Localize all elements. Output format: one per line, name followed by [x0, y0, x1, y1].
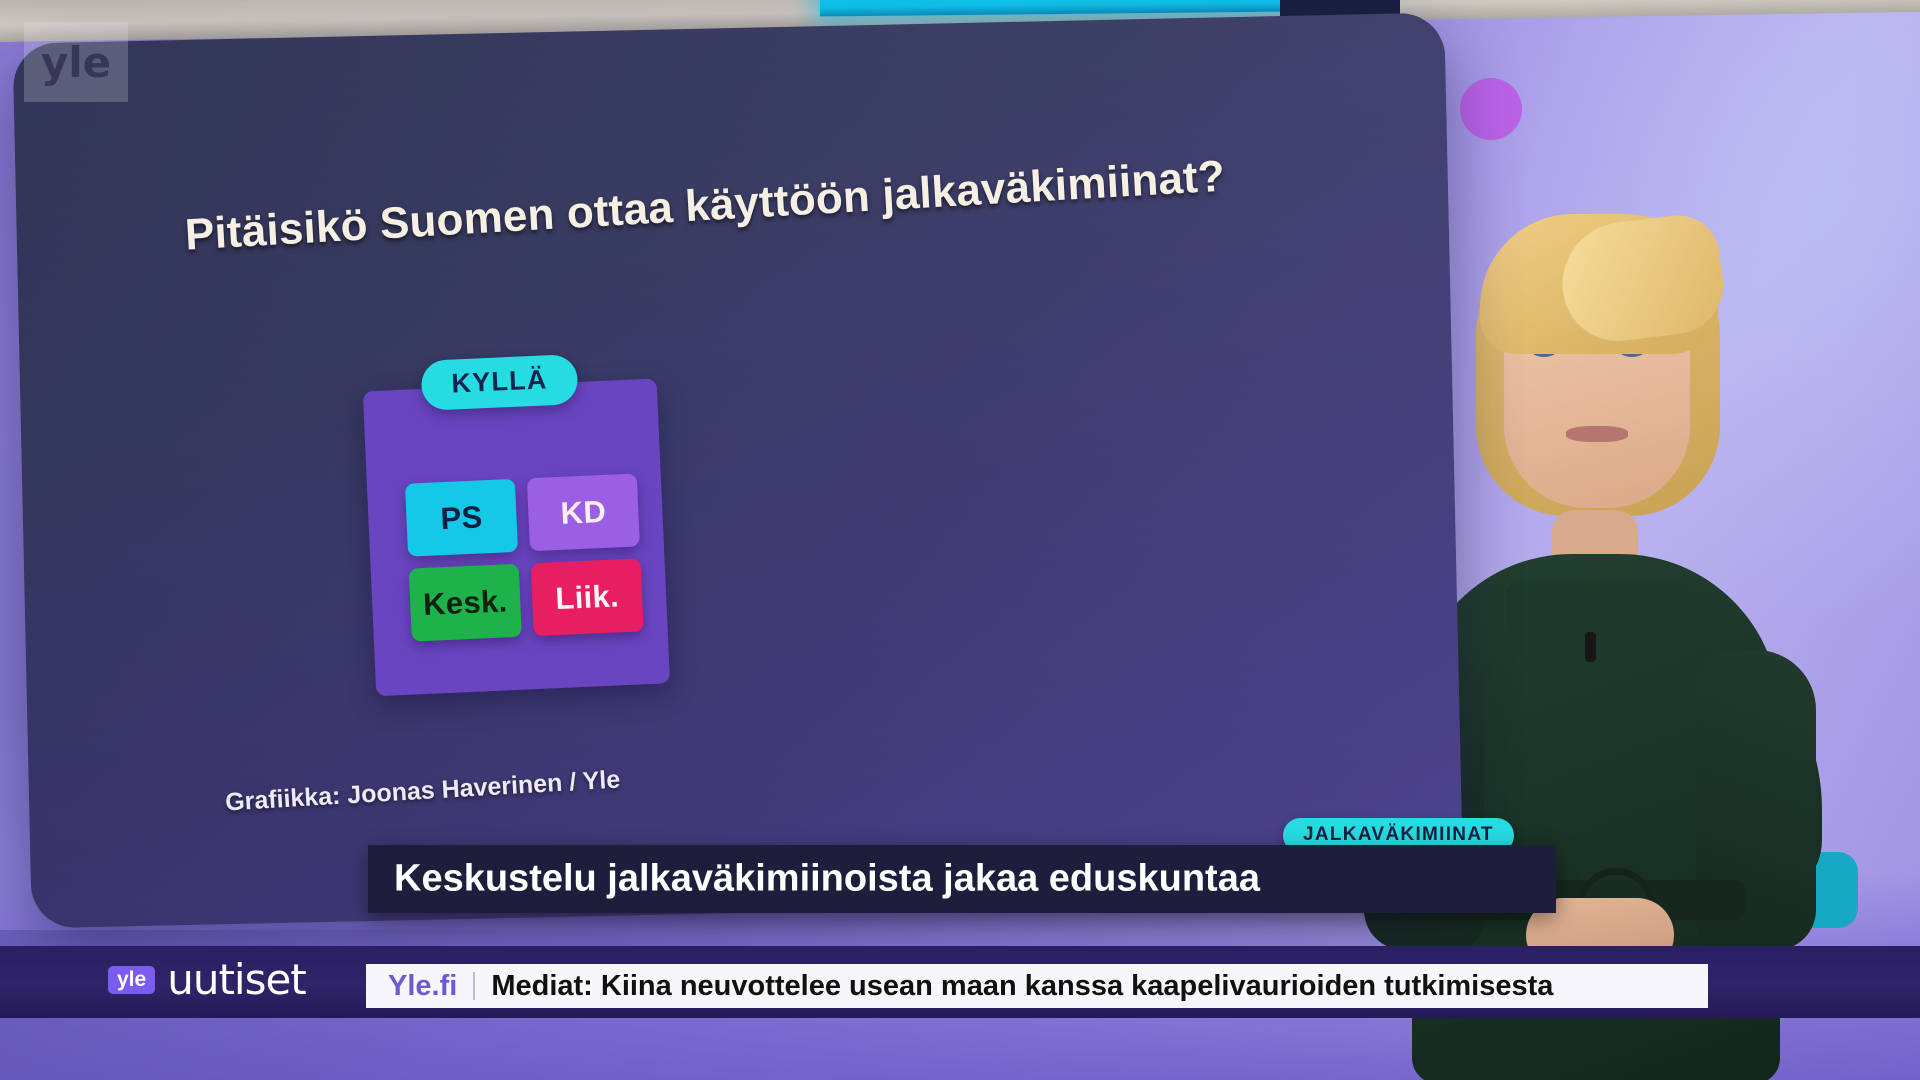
answer-label-kylla: KYLLÄ	[420, 354, 578, 411]
answer-group-container: KYLLÄ PS KD Kesk. Liik.	[363, 378, 670, 696]
yle-watermark: yle	[24, 22, 128, 102]
party-tile: Kesk.	[409, 564, 522, 642]
yle-logo-chip: yle	[108, 966, 155, 994]
ticker-source: Yle.fi	[366, 970, 457, 1003]
channel-brand: yle uutiset	[108, 955, 306, 1004]
uutiset-wordmark: uutiset	[167, 955, 306, 1004]
headline-text: Keskustelu jalkaväkimiinoista jakaa edus…	[394, 858, 1260, 901]
ticker-headline: Mediat: Kiina neuvottelee usean maan kan…	[491, 970, 1553, 1003]
news-ticker: Yle.fi Mediat: Kiina neuvottelee usean m…	[366, 964, 1708, 1008]
party-tile: Liik.	[531, 558, 644, 636]
yle-watermark-text: yle	[41, 38, 111, 87]
party-tile-grid: PS KD Kesk. Liik.	[405, 473, 644, 641]
broadcast-stage: Pitäisikö Suomen ottaa käyttöön jalkaväk…	[0, 0, 1920, 1080]
answer-group: KYLLÄ PS KD Kesk. Liik.	[363, 378, 670, 696]
ticker-divider	[473, 972, 475, 1000]
party-tile: PS	[405, 479, 518, 557]
lower-third-bar: Keskustelu jalkaväkimiinoista jakaa edus…	[368, 845, 1556, 913]
graphic-panel: Pitäisikö Suomen ottaa käyttöön jalkaväk…	[13, 12, 1464, 928]
presenter-mouth	[1566, 426, 1628, 442]
party-tile: KD	[527, 473, 640, 551]
decor-circle	[1460, 78, 1522, 140]
lapel-microphone-icon	[1585, 632, 1596, 662]
presenter-collar	[1506, 580, 1688, 650]
